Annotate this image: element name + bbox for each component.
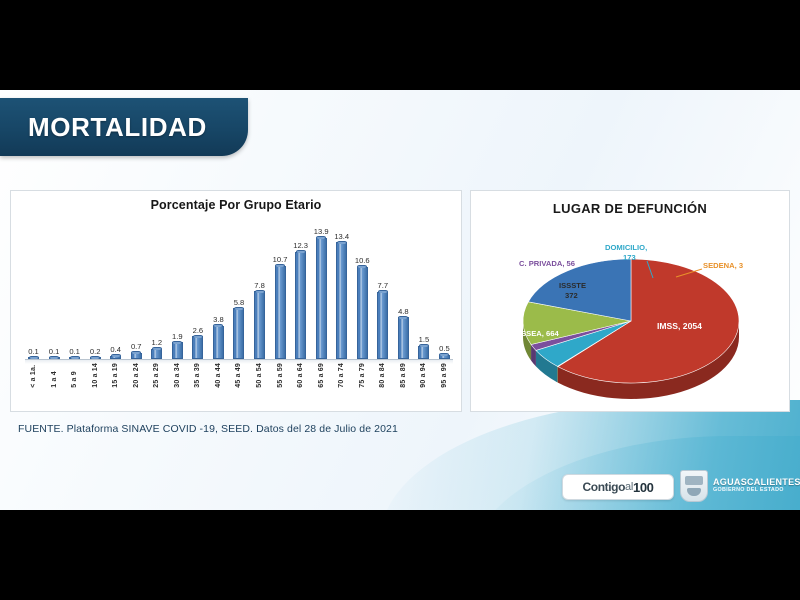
bar-column: 7.7 — [374, 219, 391, 359]
bar-value-label: 1.2 — [152, 338, 163, 347]
bar-value-label: 5.8 — [234, 298, 245, 307]
slide-title-banner: MORTALIDAD — [0, 98, 248, 156]
bar — [172, 342, 183, 359]
x-tick: 50 a 54 — [251, 363, 268, 388]
pie-chart-title: LUGAR DE DEFUNCIÓN — [471, 191, 789, 216]
aguascalientes-logo-text: AGUASCALIENTES GOBIERNO DEL ESTADO — [713, 478, 800, 493]
bar — [336, 242, 347, 359]
aguascalientes-logo-line2: GOBIERNO DEL ESTADO — [713, 488, 800, 494]
source-note: FUENTE. Plataforma SINAVE COVID -19, SEE… — [18, 423, 398, 435]
x-tick: 10 a 14 — [87, 363, 104, 388]
bar-value-label: 1.5 — [419, 335, 430, 344]
x-tick-label: 30 a 34 — [174, 363, 181, 388]
bar-value-label: 2.6 — [193, 326, 204, 335]
x-tick: 15 a 19 — [107, 363, 124, 388]
x-tick: 35 a 39 — [189, 363, 206, 388]
x-tick-label: 1 a 4 — [51, 363, 58, 388]
bar — [213, 326, 224, 359]
bar-chart-title: Porcentaje Por Grupo Etario — [11, 191, 461, 212]
bar-column: 0.4 — [107, 219, 124, 359]
bar-value-label: 13.4 — [334, 232, 349, 241]
bar — [316, 238, 327, 359]
x-tick-label: 75 a 79 — [359, 363, 366, 388]
bar — [418, 346, 429, 359]
bar-value-label: 13.9 — [314, 227, 329, 236]
x-tick-label: 15 a 19 — [112, 363, 119, 388]
x-tick: 65 a 69 — [313, 363, 330, 388]
pie-label-imss: IMSS, 2054 — [657, 321, 702, 331]
pie-label-domicilio-value: 173 — [623, 253, 636, 262]
x-tick: 75 a 79 — [354, 363, 371, 388]
bar-column: 0.1 — [66, 219, 83, 359]
contigo-logo-part2: al — [625, 481, 633, 493]
x-tick-label: 70 a 74 — [338, 363, 345, 388]
x-tick-label: 95 a 99 — [441, 363, 448, 388]
pie-chart-panel: LUGAR DE DEFUNCIÓN — [470, 190, 790, 412]
bar-column: 13.4 — [333, 219, 350, 359]
page-title: MORTALIDAD — [0, 112, 207, 143]
bar-chart-panel: Porcentaje Por Grupo Etario 0.10.10.10.2… — [10, 190, 462, 412]
x-tick: 90 a 94 — [415, 363, 432, 388]
bar-column: 5.8 — [230, 219, 247, 359]
x-tick-label: 25 a 29 — [153, 363, 160, 388]
bar-value-label: 3.8 — [213, 315, 224, 324]
bar-column: 3.8 — [210, 219, 227, 359]
pie-label-issea: ISSEA, 664 — [519, 329, 559, 338]
x-tick: 30 a 34 — [169, 363, 186, 388]
x-tick-label: 35 a 39 — [194, 363, 201, 388]
pie-label-c-privada: C. PRIVADA, 56 — [519, 259, 575, 268]
x-tick-label: 80 a 84 — [379, 363, 386, 388]
screenshot-stage: MORTALIDAD Porcentaje Por Grupo Etario 0… — [0, 0, 800, 600]
pie-label-issste-value: 372 — [565, 291, 578, 300]
bar-value-label: 10.6 — [355, 256, 370, 265]
pie-chart-plot-area: IMSS, 2054 ISSEA, 664 ISSSTE 372 C. PRIV… — [471, 221, 789, 411]
bar-value-label: 0.1 — [69, 347, 80, 356]
x-tick: 45 a 49 — [230, 363, 247, 388]
x-tick: 95 a 99 — [436, 363, 453, 388]
x-tick-label: 5 a 9 — [71, 363, 78, 388]
bar-column: 0.1 — [25, 219, 42, 359]
x-tick: 85 a 89 — [395, 363, 412, 388]
x-tick: 60 a 64 — [292, 363, 309, 388]
bar-column: 13.9 — [313, 219, 330, 359]
bar — [275, 266, 286, 359]
x-tick: < a 1a. — [25, 363, 42, 388]
bar-column: 0.5 — [436, 219, 453, 359]
bar — [398, 317, 409, 359]
x-tick-label: 60 a 64 — [297, 363, 304, 388]
x-tick: 55 a 59 — [272, 363, 289, 388]
bar-value-label: 0.4 — [110, 345, 121, 354]
x-tick-label: 50 a 54 — [256, 363, 263, 388]
bar-value-label: 0.1 — [49, 347, 60, 356]
bar-column: 0.2 — [87, 219, 104, 359]
pie-label-domicilio: DOMICILIO, — [605, 243, 647, 252]
x-tick: 70 a 74 — [333, 363, 350, 388]
x-tick: 25 a 29 — [148, 363, 165, 388]
bar-column: 0.7 — [128, 219, 145, 359]
x-tick: 20 a 24 — [128, 363, 145, 388]
x-tick: 1 a 4 — [46, 363, 63, 388]
bar-value-label: 4.8 — [398, 307, 409, 316]
bar — [192, 336, 203, 359]
contigo-logo-part1: Contigo — [583, 480, 626, 494]
bar-column: 10.6 — [354, 219, 371, 359]
bar — [151, 349, 162, 359]
bar-value-label: 10.7 — [273, 255, 288, 264]
x-tick-label: 85 a 89 — [400, 363, 407, 388]
bar — [357, 267, 368, 359]
x-tick-label: 10 a 14 — [92, 363, 99, 388]
contigo-logo-part3: 100 — [633, 480, 654, 495]
aguascalientes-logo: AGUASCALIENTES GOBIERNO DEL ESTADO — [680, 470, 800, 502]
bar-column: 1.2 — [148, 219, 165, 359]
x-tick-label: 55 a 59 — [277, 363, 284, 388]
bar — [233, 308, 244, 359]
presentation-slide: MORTALIDAD Porcentaje Por Grupo Etario 0… — [0, 90, 800, 510]
contigo-al-100-logo: Contigoal100 — [562, 474, 674, 500]
bar-chart-plot-area: 0.10.10.10.20.40.71.21.92.63.85.87.810.7… — [25, 219, 453, 405]
pie-label-sedena: SEDENA, 3 — [703, 261, 743, 270]
bar-value-label: 1.9 — [172, 332, 183, 341]
bar-value-label: 7.7 — [378, 281, 389, 290]
bar-column: 7.8 — [251, 219, 268, 359]
x-tick-label: 40 a 44 — [215, 363, 222, 388]
bar-value-label: 12.3 — [293, 241, 308, 250]
bar-column: 1.9 — [169, 219, 186, 359]
x-tick: 40 a 44 — [210, 363, 227, 388]
bar — [377, 292, 388, 359]
bar-column: 12.3 — [292, 219, 309, 359]
x-tick-label: < a 1a. — [30, 363, 37, 388]
bar-value-label: 0.5 — [439, 344, 450, 353]
x-tick: 80 a 84 — [374, 363, 391, 388]
bar-series: 0.10.10.10.20.40.71.21.92.63.85.87.810.7… — [25, 219, 453, 359]
x-tick-label: 20 a 24 — [133, 363, 140, 388]
bar-column: 0.1 — [46, 219, 63, 359]
x-tick-label: 45 a 49 — [235, 363, 242, 388]
x-tick-label: 90 a 94 — [420, 363, 427, 388]
bar-value-label: 7.8 — [254, 281, 265, 290]
bar-column: 1.5 — [415, 219, 432, 359]
bar-column: 10.7 — [272, 219, 289, 359]
bar-column: 4.8 — [395, 219, 412, 359]
pie-label-issste: ISSSTE — [559, 281, 586, 290]
bar-value-label: 0.7 — [131, 342, 142, 351]
coat-of-arms-icon — [680, 470, 708, 502]
bar-value-label: 0.1 — [28, 347, 39, 356]
x-tick: 5 a 9 — [66, 363, 83, 388]
bar-value-label: 0.2 — [90, 347, 101, 356]
x-tick-label: 65 a 69 — [318, 363, 325, 388]
bar-column: 2.6 — [189, 219, 206, 359]
bar — [254, 291, 265, 359]
bar — [295, 252, 306, 359]
bar-chart-x-tick-labels: < a 1a.1 a 45 a 910 a 1415 a 1920 a 2425… — [25, 363, 453, 388]
